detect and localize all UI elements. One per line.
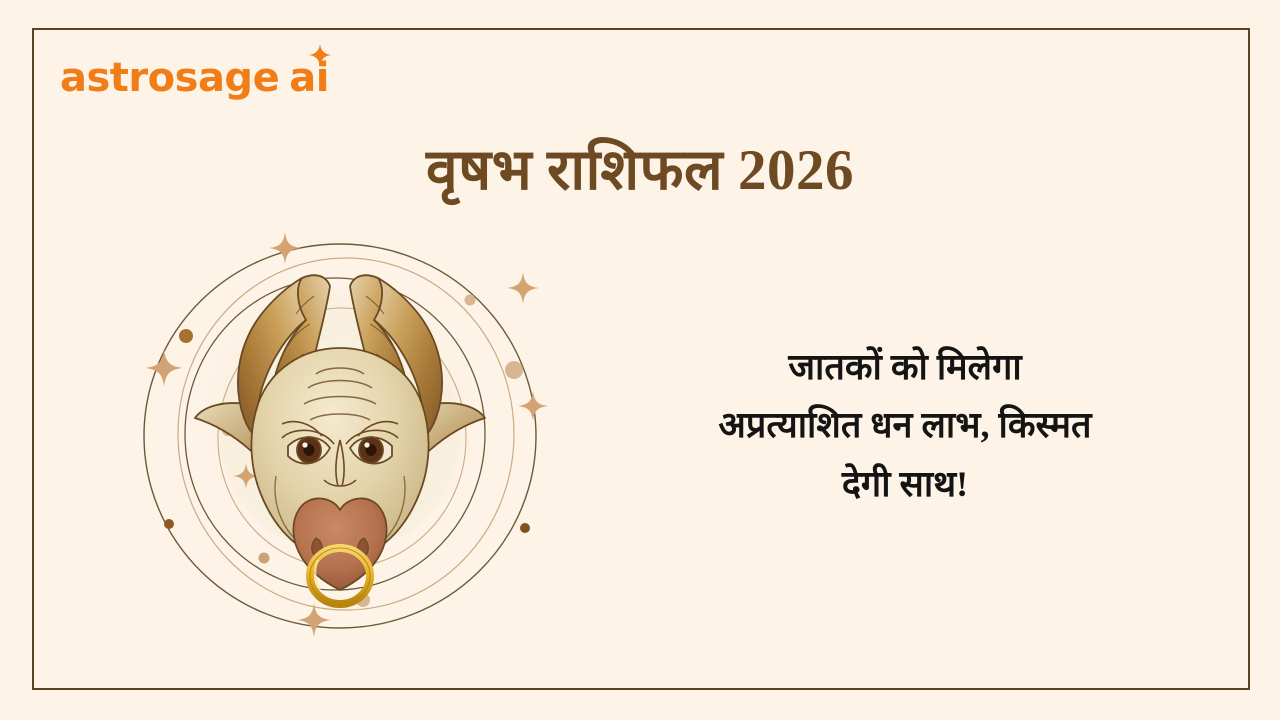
poster-canvas: astrosage ai वृषभ राशिफल 2026 जातकों को …	[0, 0, 1280, 720]
headline-line-2: अप्रत्याशित धन लाभ, किस्मत	[585, 396, 1225, 454]
page-title: वृषभ राशिफल 2026	[0, 128, 1280, 206]
headline-line-1: जातकों को मिलेगा	[585, 338, 1225, 396]
headline-line-3: देगी साथ!	[585, 455, 1225, 513]
logo-text-astrosage: astrosage	[60, 58, 279, 98]
taurus-zodiac-illustration	[110, 228, 570, 658]
logo-text-ai-wrap: ai	[289, 58, 329, 98]
astrosage-ai-logo[interactable]: astrosage ai	[60, 58, 329, 98]
sparkle-icon	[309, 44, 331, 66]
headline-block: जातकों को मिलेगा अप्रत्याशित धन लाभ, किस…	[585, 338, 1225, 513]
